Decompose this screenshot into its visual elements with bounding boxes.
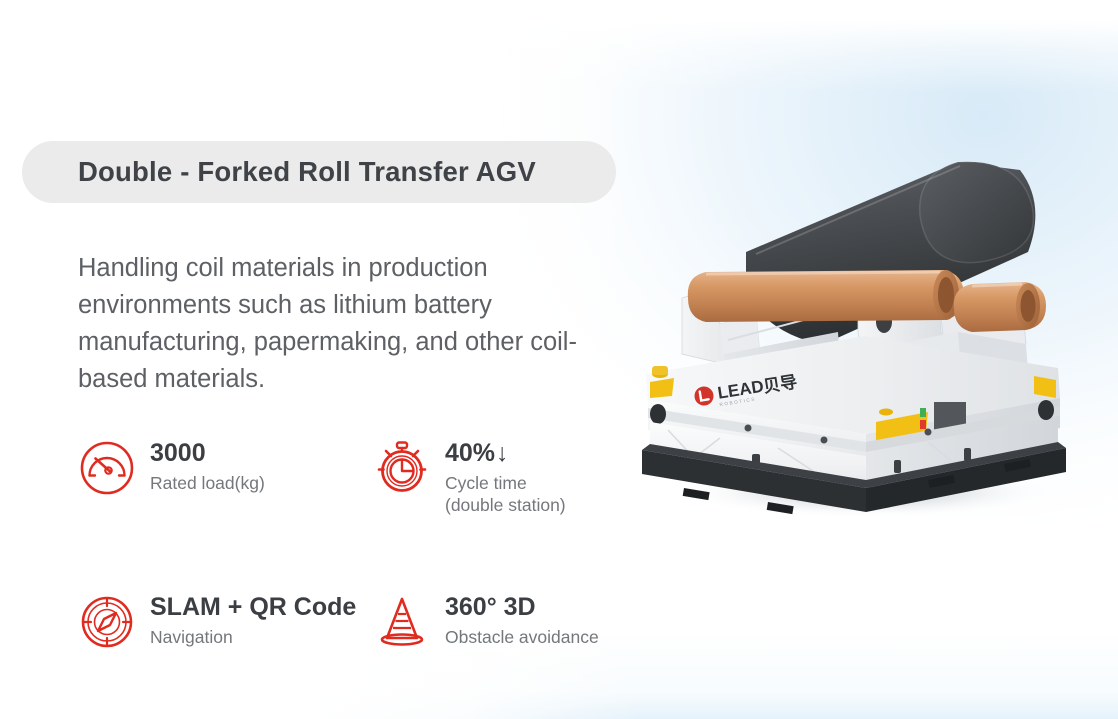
spec-value-number: 3000 [150,440,206,467]
spec-label-line2: (double station) [445,494,566,516]
down-arrow-icon: ↓ [496,440,509,467]
stopwatch-icon [373,439,431,497]
spec-value: 40% ↓ [445,440,566,467]
spec-label-line1: Navigation [150,627,233,647]
compass-icon [78,593,136,651]
spec-item-rated-load: 3000 Rated load(kg) [78,437,373,516]
spec-value: 360° 3D [445,594,599,621]
spec-label-line1: Rated load(kg) [150,473,265,493]
page-title: Double - Forked Roll Transfer AGV [78,156,536,188]
spec-label: Rated load(kg) [150,472,265,494]
spec-item-obstacle-avoidance: 360° 3D Obstacle avoidance [373,591,668,651]
fork-core-long [688,270,964,322]
spec-text: SLAM + QR Code Navigation [150,591,356,648]
spec-value-number: 360° 3D [445,594,536,621]
spec-label: Navigation [150,626,356,648]
spec-text: 3000 Rated load(kg) [150,437,265,494]
spec-row-2: SLAM + QR Code Navigation [78,591,668,651]
spec-label: Cycle time (double station) [445,472,566,516]
spec-text: 360° 3D Obstacle avoidance [445,591,599,648]
spec-label: Obstacle avoidance [445,626,599,648]
page-title-pill: Double - Forked Roll Transfer AGV [22,141,616,203]
spec-row-1: 3000 Rated load(kg) [78,437,668,516]
spec-text: 40% ↓ Cycle time (double station) [445,437,566,516]
spec-item-cycle-time: 40% ↓ Cycle time (double station) [373,437,668,516]
spec-list: 3000 Rated load(kg) [78,437,668,651]
gauge-icon [78,439,136,497]
spec-value: SLAM + QR Code [150,594,356,621]
spec-value-number: 40% [445,440,495,467]
fork-core-short [954,282,1046,332]
product-description: Handling coil materials in production en… [78,250,638,398]
spec-label-line1: Cycle time [445,473,527,493]
spec-value: 3000 [150,440,265,467]
traffic-cone-icon [373,593,431,651]
product-slide: Double - Forked Roll Transfer AGV Handli… [0,0,1118,719]
spec-label-line1: Obstacle avoidance [445,627,599,647]
agv-product-image: LEAD 贝导 ROBOTICS [628,92,1106,522]
spec-value-number: SLAM + QR Code [150,594,356,621]
spec-item-navigation: SLAM + QR Code Navigation [78,591,373,651]
